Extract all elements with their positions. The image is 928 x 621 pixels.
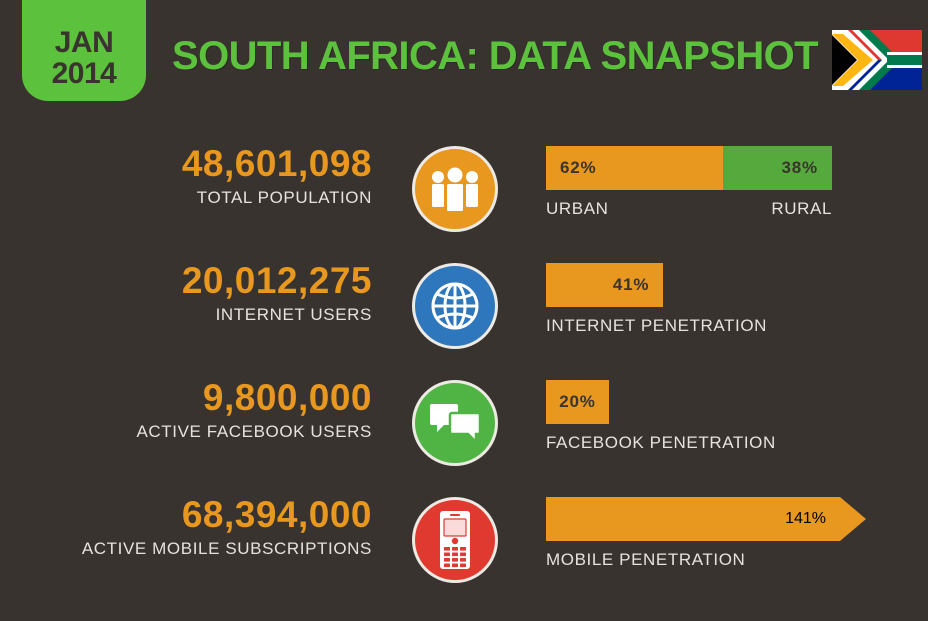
bar-segment-internet: 41% bbox=[546, 263, 663, 307]
south-africa-flag-icon bbox=[832, 30, 922, 90]
stat-label: ACTIVE FACEBOOK USERS bbox=[0, 420, 372, 444]
bar-segment-urban: 62% bbox=[546, 146, 723, 190]
bar-track: 20% bbox=[546, 380, 832, 424]
bar-caption-row: INTERNET PENETRATION bbox=[546, 316, 832, 338]
people-icon bbox=[412, 146, 498, 232]
page-header: JAN 2014 SOUTH AFRICA: DATA SNAPSHOT bbox=[0, 0, 928, 118]
people-icon-svg bbox=[428, 167, 482, 211]
stat-number: 48,601,098 bbox=[0, 142, 372, 186]
speech-bubbles-icon bbox=[412, 380, 498, 466]
bar-percent-mobile: 141% bbox=[785, 510, 826, 528]
stat-number: 20,012,275 bbox=[0, 259, 372, 303]
stat-block: 20,012,275 INTERNET USERS bbox=[0, 259, 372, 327]
speech-bubbles-icon-svg bbox=[429, 400, 481, 446]
date-month: JAN bbox=[55, 27, 114, 58]
bar-caption-rural: RURAL bbox=[771, 199, 832, 219]
page-title: SOUTH AFRICA: DATA SNAPSHOT bbox=[172, 34, 818, 79]
stat-number: 68,394,000 bbox=[0, 493, 372, 537]
stat-row-mobile: 68,394,000 ACTIVE MOBILE SUBSCRIPTIONS bbox=[0, 481, 928, 599]
stat-label: TOTAL POPULATION bbox=[0, 186, 372, 210]
stat-number: 9,800,000 bbox=[0, 376, 372, 420]
bar-segment-facebook: 20% bbox=[546, 380, 609, 424]
bar-caption-facebook: FACEBOOK PENETRATION bbox=[546, 433, 776, 453]
bar-block: 141% MOBILE PENETRATION bbox=[546, 497, 886, 572]
bar-block: 20% FACEBOOK PENETRATION bbox=[546, 380, 886, 455]
bar-segment-mobile: 141% bbox=[546, 497, 866, 541]
bar-caption-urban: URBAN bbox=[546, 199, 609, 219]
bar-caption-mobile: MOBILE PENETRATION bbox=[546, 550, 745, 570]
bar-percent-rural: 38% bbox=[782, 158, 818, 178]
stat-row-internet: 20,012,275 INTERNET USERS 41% INTERNET P… bbox=[0, 247, 928, 365]
mobile-phone-icon-svg bbox=[435, 510, 475, 570]
flag-svg bbox=[832, 30, 922, 90]
date-badge: JAN 2014 bbox=[22, 0, 146, 101]
mobile-phone-icon bbox=[412, 497, 498, 583]
stat-label: ACTIVE MOBILE SUBSCRIPTIONS bbox=[0, 537, 372, 561]
stat-block: 68,394,000 ACTIVE MOBILE SUBSCRIPTIONS bbox=[0, 493, 372, 561]
stat-label: INTERNET USERS bbox=[0, 303, 372, 327]
bar-caption-row: URBAN RURAL bbox=[546, 199, 832, 221]
bar-caption-row: MOBILE PENETRATION bbox=[546, 550, 832, 572]
bar-block: 62% 38% URBAN RURAL bbox=[546, 146, 886, 221]
bar-block: 41% INTERNET PENETRATION bbox=[546, 263, 886, 338]
bar-track: 141% bbox=[546, 497, 866, 541]
bar-percent-urban: 62% bbox=[560, 158, 596, 178]
bar-segment-rural: 38% bbox=[723, 146, 832, 190]
bar-caption-row: FACEBOOK PENETRATION bbox=[546, 433, 832, 455]
bar-percent-facebook: 20% bbox=[559, 392, 595, 412]
bar-track: 41% bbox=[546, 263, 832, 307]
stat-block: 48,601,098 TOTAL POPULATION bbox=[0, 142, 372, 210]
bar-percent-internet: 41% bbox=[613, 275, 649, 295]
date-year: 2014 bbox=[52, 58, 117, 89]
stat-block: 9,800,000 ACTIVE FACEBOOK USERS bbox=[0, 376, 372, 444]
stat-row-facebook: 9,800,000 ACTIVE FACEBOOK USERS 20% FACE… bbox=[0, 364, 928, 482]
globe-icon-svg bbox=[429, 280, 481, 332]
stat-row-population: 48,601,098 TOTAL POPULATION 62% 38% URBA… bbox=[0, 130, 928, 248]
bar-track: 62% 38% bbox=[546, 146, 832, 190]
bar-caption-internet: INTERNET PENETRATION bbox=[546, 316, 767, 336]
globe-icon bbox=[412, 263, 498, 349]
